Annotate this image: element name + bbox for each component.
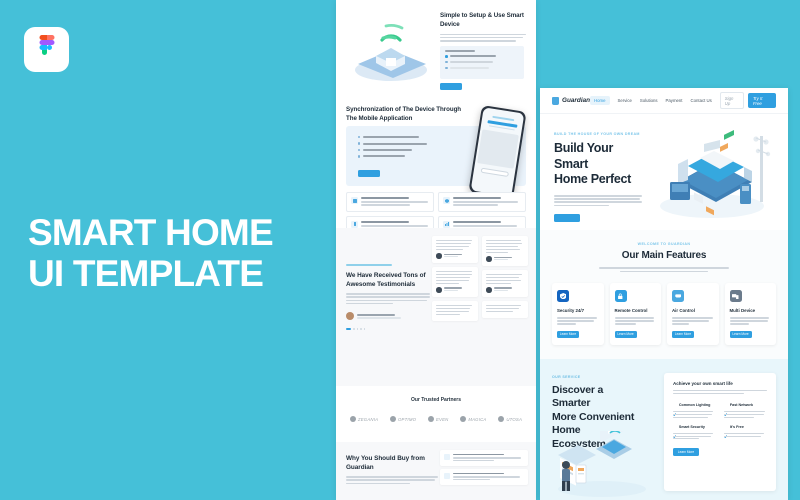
learn-more-button[interactable]: Learn More [730, 331, 752, 338]
feature-card[interactable] [346, 192, 434, 212]
hero-title-line-2: Home Perfect [554, 172, 631, 186]
features-section: WELCOME TO GUARDIAN Our Main Features Se… [540, 230, 788, 359]
setup-copy: Simple to Setup & Use Smart Device [440, 12, 526, 42]
check-icon [724, 403, 727, 406]
feature-body [615, 317, 657, 324]
template-preview-stage: SMART HOME UI TEMPLATE Simple to Setup &… [0, 0, 800, 500]
air-icon [672, 290, 684, 302]
testimonials-copy: We Have Received Tons of Awesome Testimo… [346, 238, 430, 330]
features-subtitle [599, 267, 729, 272]
feature-card-multi-device[interactable]: Multi Device Learn More [725, 283, 777, 344]
nav-links: Home Service Solutions Payment Contact U… [590, 96, 712, 105]
accordion-item[interactable] [440, 450, 528, 466]
feature-card-security[interactable]: Security 24/7 Learn More [552, 283, 604, 344]
learn-more-button[interactable]: Learn More [672, 331, 694, 338]
ecosystem-section: OUR SERVICE Discover a Smarter More Conv… [540, 359, 788, 500]
list-item [358, 149, 428, 151]
isometric-smart-house-illustration [648, 120, 780, 224]
learn-more-button[interactable]: Learn More [615, 331, 637, 338]
testimonial-card[interactable] [482, 236, 528, 266]
sync-card [346, 126, 526, 186]
guardian-logo[interactable]: Guardian [552, 97, 590, 105]
ecosystem-item-common-lighting: Common Lighting [673, 403, 716, 418]
testimonials-body [346, 293, 430, 304]
lock-icon [615, 290, 627, 302]
check-icon [673, 425, 676, 428]
setup-section: Simple to Setup & Use Smart Device [336, 0, 536, 96]
setup-body [440, 34, 526, 42]
shield-check-icon [557, 290, 569, 302]
feature-body [730, 317, 772, 324]
nav-item-payment[interactable]: Payment [666, 98, 683, 103]
ecosystem-title-line-1: Discover a Smarter [552, 384, 603, 410]
partner-logos: ZEGANIA OPTIMO EVEN MAGICA UTOSA [336, 416, 536, 422]
site-navbar: Guardian Home Service Solutions Payment … [540, 88, 788, 114]
cog-icon [444, 473, 450, 479]
shield-icon [443, 197, 450, 204]
sign-up-button[interactable]: Sign Up [720, 92, 744, 108]
carousel-dots[interactable] [346, 328, 430, 330]
smart-home-wifi-isometric-illustration [348, 20, 434, 82]
accordion-item[interactable] [440, 469, 528, 485]
try-it-free-button[interactable]: Try It Free [748, 93, 776, 108]
ecosystem-cta-button[interactable]: Learn More [673, 448, 699, 456]
person-with-smart-home-dashboard-illustration [550, 431, 654, 497]
features-heading: Our Main Features [552, 250, 776, 261]
sync-heading: Synchronization of The Device Through Th… [346, 106, 466, 124]
document-icon [351, 197, 358, 204]
feature-card-remote[interactable]: Remote Control Learn More [610, 283, 662, 344]
ecosystem-item-smart-security: Smart Security [673, 425, 716, 440]
why-buy-body [346, 476, 438, 484]
mid-page-preview[interactable]: Simple to Setup & Use Smart Device Synch… [336, 0, 536, 500]
partner-logo: OPTIMO [390, 416, 416, 422]
page-title: SMART HOME UI TEMPLATE [28, 212, 328, 295]
testimonial-cards [432, 236, 528, 384]
chart-icon [443, 221, 450, 228]
check-icon [673, 403, 676, 406]
testimonial-card[interactable] [482, 301, 528, 318]
hero-title: Build Your Smart Home Perfect [554, 141, 650, 188]
title-line-1: SMART HOME [28, 212, 273, 253]
feature-title: Remote Control [615, 308, 657, 313]
partners-heading: Our Trusted Partners [336, 397, 536, 403]
feature-body [672, 317, 714, 324]
feature-card-air[interactable]: Air Control Learn More [667, 283, 719, 344]
feature-title: Multi Device [730, 308, 772, 313]
figma-logo-icon [24, 27, 69, 72]
hero-body [554, 195, 642, 207]
sync-checklist [358, 136, 428, 162]
feature-body [557, 317, 599, 324]
features-eyebrow: WELCOME TO GUARDIAN [552, 242, 776, 246]
testimonials-eyebrow [346, 264, 392, 266]
learn-more-button[interactable]: Learn More [557, 331, 579, 338]
testimonial-author [346, 312, 430, 320]
why-buy-accordion[interactable] [440, 450, 528, 485]
hero-cta-button[interactable] [554, 214, 580, 222]
setup-options[interactable] [440, 46, 524, 79]
partners-section: Our Trusted Partners ZEGANIA OPTIMO EVEN… [336, 386, 536, 442]
mobile-icon [351, 221, 358, 228]
partner-logo: UTOSA [498, 416, 522, 422]
nav-item-solutions[interactable]: Solutions [640, 98, 658, 103]
partner-logo: ZEGANIA [350, 416, 378, 422]
bulb-icon [444, 454, 450, 460]
nav-item-contact-us[interactable]: Contact Us [691, 98, 712, 103]
partner-logo: MAGICA [460, 416, 486, 422]
testimonials-section: We Have Received Tons of Awesome Testimo… [336, 228, 536, 386]
feature-title: Air Control [672, 308, 714, 313]
setup-cta-button[interactable] [440, 83, 462, 90]
testimonial-card[interactable] [482, 270, 528, 297]
why-buy-section: Why You Should Buy from Guardian [336, 442, 536, 500]
testimonial-card[interactable] [432, 236, 478, 263]
feature-title: Security 24/7 [557, 308, 599, 313]
list-item [358, 142, 428, 144]
feature-card-grid: Security 24/7 Learn More Remote Control … [552, 283, 776, 344]
brand-panel: SMART HOME UI TEMPLATE [0, 0, 336, 500]
ecosystem-item-fast-network: Fast Network [724, 403, 767, 418]
nav-actions: Sign Up Try It Free [720, 92, 776, 108]
setup-option[interactable] [445, 67, 519, 70]
why-buy-heading: Why You Should Buy from Guardian [346, 454, 438, 472]
feature-card[interactable] [438, 192, 526, 212]
landing-page-preview[interactable]: Guardian Home Service Solutions Payment … [540, 88, 788, 500]
sync-cta-button[interactable] [358, 170, 380, 177]
partner-logo: EVEN [428, 416, 449, 422]
list-item [358, 136, 428, 138]
house-logo-icon [552, 97, 559, 105]
setup-option[interactable] [445, 61, 519, 64]
testimonials-heading: We Have Received Tons of Awesome Testimo… [346, 271, 430, 289]
avatar [346, 312, 354, 320]
logo-text: Guardian [562, 97, 590, 104]
ecosystem-card-body [673, 390, 767, 395]
nav-item-home[interactable]: Home [590, 96, 609, 105]
testimonial-card[interactable] [432, 301, 478, 321]
title-line-2: UI TEMPLATE [28, 253, 328, 294]
setup-heading: Simple to Setup & Use Smart Device [440, 12, 526, 30]
hero-section: BUILD THE HOUSE OF YOUR OWN DREAM Build … [540, 114, 788, 230]
ecosystem-card-heading: Achieve your own smart life [673, 381, 767, 386]
check-icon [724, 425, 727, 428]
ecosystem-items: Common Lighting Fast Network Smart Secur… [673, 403, 767, 439]
devices-icon [730, 290, 742, 302]
nav-item-service[interactable]: Service [618, 98, 632, 103]
list-item [358, 155, 428, 157]
ecosystem-card: Achieve your own smart life Common Light… [664, 373, 776, 491]
setup-option[interactable] [445, 55, 519, 58]
testimonial-card[interactable] [432, 267, 478, 297]
phone-mockup [468, 105, 526, 199]
hero-title-line-1: Build Your Smart [554, 141, 613, 171]
ecosystem-item-its-free: It's Free [724, 425, 767, 440]
sync-section: Synchronization of The Device Through Th… [336, 96, 536, 228]
